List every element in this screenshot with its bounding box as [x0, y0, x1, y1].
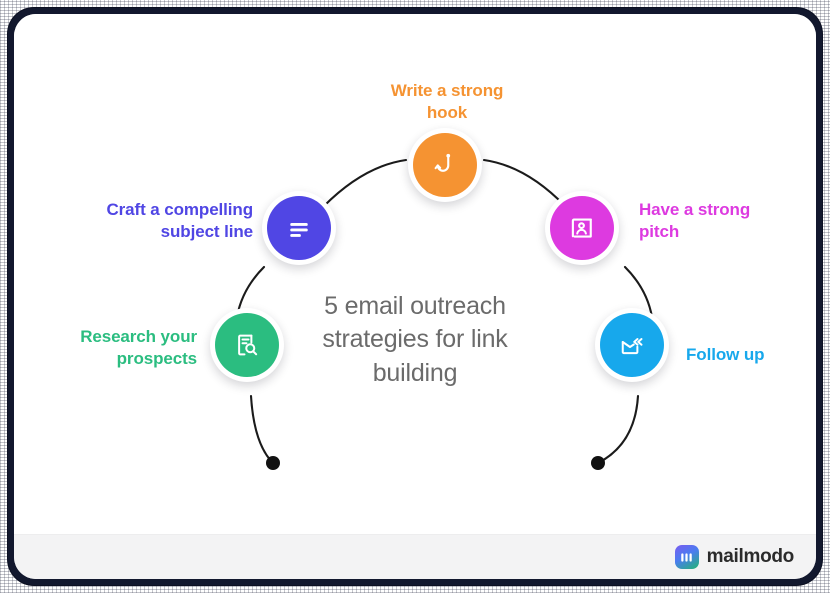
node-circle-green	[215, 313, 279, 377]
label-craft-subject-line: Craft a compelling subject line	[40, 199, 253, 244]
label-line-1: Craft a compelling	[40, 199, 253, 221]
text-lines-icon	[284, 213, 314, 243]
footer-bar: mailmodo	[14, 534, 816, 579]
infographic-screen: 5 email outreach strategies for link bui…	[0, 0, 830, 593]
node-circle-indigo	[267, 196, 331, 260]
node-circle-orange	[413, 133, 477, 197]
infographic-card: 5 email outreach strategies for link bui…	[14, 14, 816, 579]
label-have-strong-pitch: Have a strong pitch	[639, 199, 816, 244]
label-line-2: hook	[357, 102, 537, 124]
label-line-1: Have a strong	[639, 199, 816, 221]
node-have-strong-pitch[interactable]	[545, 191, 619, 265]
node-craft-subject-line[interactable]	[262, 191, 336, 265]
label-line-1: Research your	[22, 326, 197, 348]
node-write-strong-hook[interactable]	[408, 128, 482, 202]
center-title-line-3: building	[285, 357, 545, 390]
label-line-1: Follow up	[686, 344, 816, 366]
center-title-line-1: 5 email outreach	[285, 290, 545, 323]
node-circle-magenta	[550, 196, 614, 260]
node-follow-up[interactable]	[595, 308, 669, 382]
label-line-2: prospects	[22, 348, 197, 370]
logo-bars-glyph	[679, 550, 694, 565]
label-line-2: subject line	[40, 221, 253, 243]
label-research-prospects: Research your prospects	[22, 326, 197, 371]
brand-lockup: mailmodo	[675, 545, 794, 569]
mailmodo-logo-icon	[675, 545, 699, 569]
document-search-icon	[232, 330, 262, 360]
center-title: 5 email outreach strategies for link bui…	[285, 290, 545, 390]
node-circle-blue	[600, 313, 664, 377]
card-body: 5 email outreach strategies for link bui…	[14, 14, 816, 535]
presentation-person-icon	[567, 213, 597, 243]
label-write-strong-hook: Write a strong hook	[357, 80, 537, 125]
label-follow-up: Follow up	[686, 344, 816, 366]
fish-hook-icon	[430, 150, 460, 180]
node-research-prospects[interactable]	[210, 308, 284, 382]
label-line-1: Write a strong	[357, 80, 537, 102]
brand-name: mailmodo	[707, 546, 794, 568]
label-line-2: pitch	[639, 221, 816, 243]
center-title-line-2: strategies for link	[285, 323, 545, 356]
envelope-reply-icon	[617, 330, 647, 360]
